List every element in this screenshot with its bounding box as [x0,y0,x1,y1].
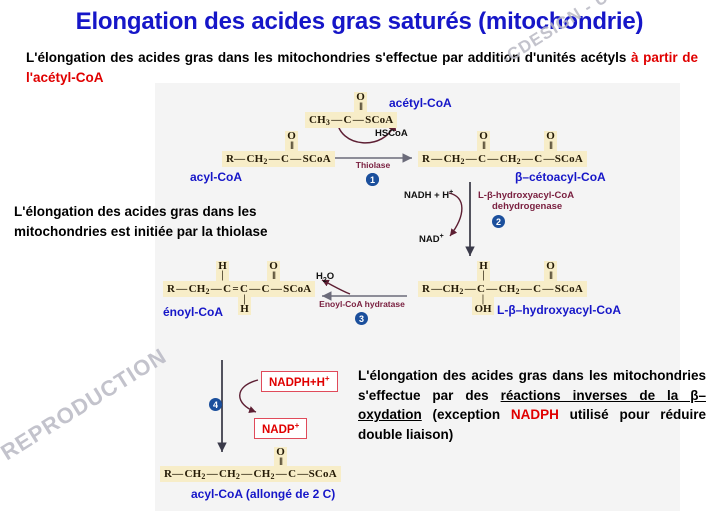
step-number-3: 3 [355,312,368,325]
enoyl-coa-formula: R — CH2 — C = C — C — SCoA [167,283,311,296]
product-acyl-coa-formula: R— CH2 — CH2 — CH2 — C —SCoA [164,468,337,481]
l-beta-hydroxyacyl-coa-structure: R —CH2 — C — CH2 — C — SCoA [418,281,587,297]
intro-paragraph: L'élongation des acides gras dans les mi… [26,48,698,87]
product-acyl-coa-structure: R— CH2 — CH2 — CH2 — C —SCoA [160,466,341,482]
nadph-text: NADPH+H [269,377,325,389]
product-double-bond: ‖ [279,458,282,466]
note-bottom-part2: (exception [422,407,511,422]
note-bottom-nadph: NADPH [511,407,559,422]
product-acyl-coa-label: acyl-CoA (allongé de 2 C) [191,487,335,501]
enzyme-thiolase: Thiolase [338,161,408,171]
hydroxyacyl-carbonyl: O ‖ [544,261,557,281]
nad-label: NAD+ [419,233,444,245]
l-beta-hydroxyacyl-coa-formula: R —CH2 — C — CH2 — C — SCoA [422,283,583,296]
product-carbonyl: O ‖ [274,447,287,468]
enzyme-enoyl-coa-hydratase: Enoyl-CoA hydratase [307,300,417,310]
hscoa-label: HSCoA [375,128,408,139]
hydroxyacyl-bond-vert: | [482,272,484,280]
acetyl-coa-structure: CH3 — C — SCoA [305,112,397,128]
nadh-label: NADH + H+ [404,189,453,201]
l-beta-hydroxyacyl-coa-label: L-β–hydroxyacyl-CoA [497,303,621,317]
enoyl-top-h: H | [216,261,229,281]
acetyl-coa-formula: CH3 — C — SCoA [309,114,393,127]
cetoacyl-double-bond-1: ‖ [482,142,485,150]
nadph-box: NADPH+H+ [261,371,338,392]
hydroxyacyl-top-h: H | [477,261,490,281]
acyl-coa-formula: R— CH2 — C — SCoA [226,153,331,166]
cetoacyl-carbonyl-1: O ‖ [477,131,490,153]
note-thiolase: L'élongation des acides gras dans les mi… [14,202,284,241]
note-beta-oxidation: L'élongation des acides gras dans les mi… [358,366,706,444]
enoyl-coa-label: énoyl-CoA [163,305,223,319]
step-number-1: 1 [366,173,379,186]
nadp-box: NADP+ [254,418,307,439]
beta-cetoacyl-coa-label: β–cétoacyl-CoA [515,170,606,184]
enoyl-h-bottom-atom: H [240,304,249,315]
cetoacyl-double-bond-2: ‖ [549,142,552,150]
step-number-4: 4 [209,398,222,411]
enzyme-line-1: L-β-hydroxyacyl-CoA [478,190,574,201]
page-title: Elongation des acides gras saturés (mito… [0,8,719,36]
watermark-bottom: REPRODUCTION [0,343,172,466]
enoyl-coa-structure: R — CH2 — C = C — C — SCoA [163,281,315,297]
enzyme-hydroxyacyl-dehydrogenase: L-β-hydroxyacyl-CoA dehydrogenase [478,191,602,213]
nadp-charge: + [295,421,300,430]
beta-cetoacyl-coa-structure: R — CH2 — C — CH2 — C —SCoA [418,151,587,167]
acyl-coa-carbonyl: O ‖ [285,131,298,153]
diagram-panel [155,83,680,511]
hydroxyacyl-double-bond: ‖ [549,272,552,280]
acyl-coa-structure: R— CH2 — C — SCoA [222,151,335,167]
acetyl-coa-double-bond: ‖ [359,103,362,111]
acyl-coa-label: acyl-CoA [190,170,242,184]
intro-text-black: L'élongation des acides gras dans les mi… [26,50,631,65]
beta-cetoacyl-coa-formula: R — CH2 — C — CH2 — C —SCoA [422,153,583,166]
enoyl-bottom-h: | H [238,296,251,315]
nadh-text: NADH + H [404,190,449,201]
acetyl-coa-label: acétyl-CoA [389,96,452,110]
nadph-charge: + [325,374,330,383]
cetoacyl-carbonyl-2: O ‖ [544,131,557,153]
water-label: H2O [316,271,334,284]
nad-text: NAD [419,234,440,245]
nadp-text: NADP [262,424,295,436]
enoyl-bond-vert-top: | [221,272,223,280]
step-number-2: 2 [492,215,505,228]
hydroxyacyl-oh-atom: OH [474,304,491,315]
nad-charge: + [440,233,444,240]
enoyl-carbonyl: O ‖ [267,261,280,281]
acetyl-coa-carbonyl: O ‖ [354,92,367,114]
enoyl-double-bond: ‖ [272,272,275,280]
nadh-charge: + [449,189,453,196]
hydroxyacyl-oh-group: | OH [472,296,494,315]
acyl-coa-double-bond: ‖ [290,142,293,150]
enzyme-line-2: dehydrogenase [492,202,562,213]
